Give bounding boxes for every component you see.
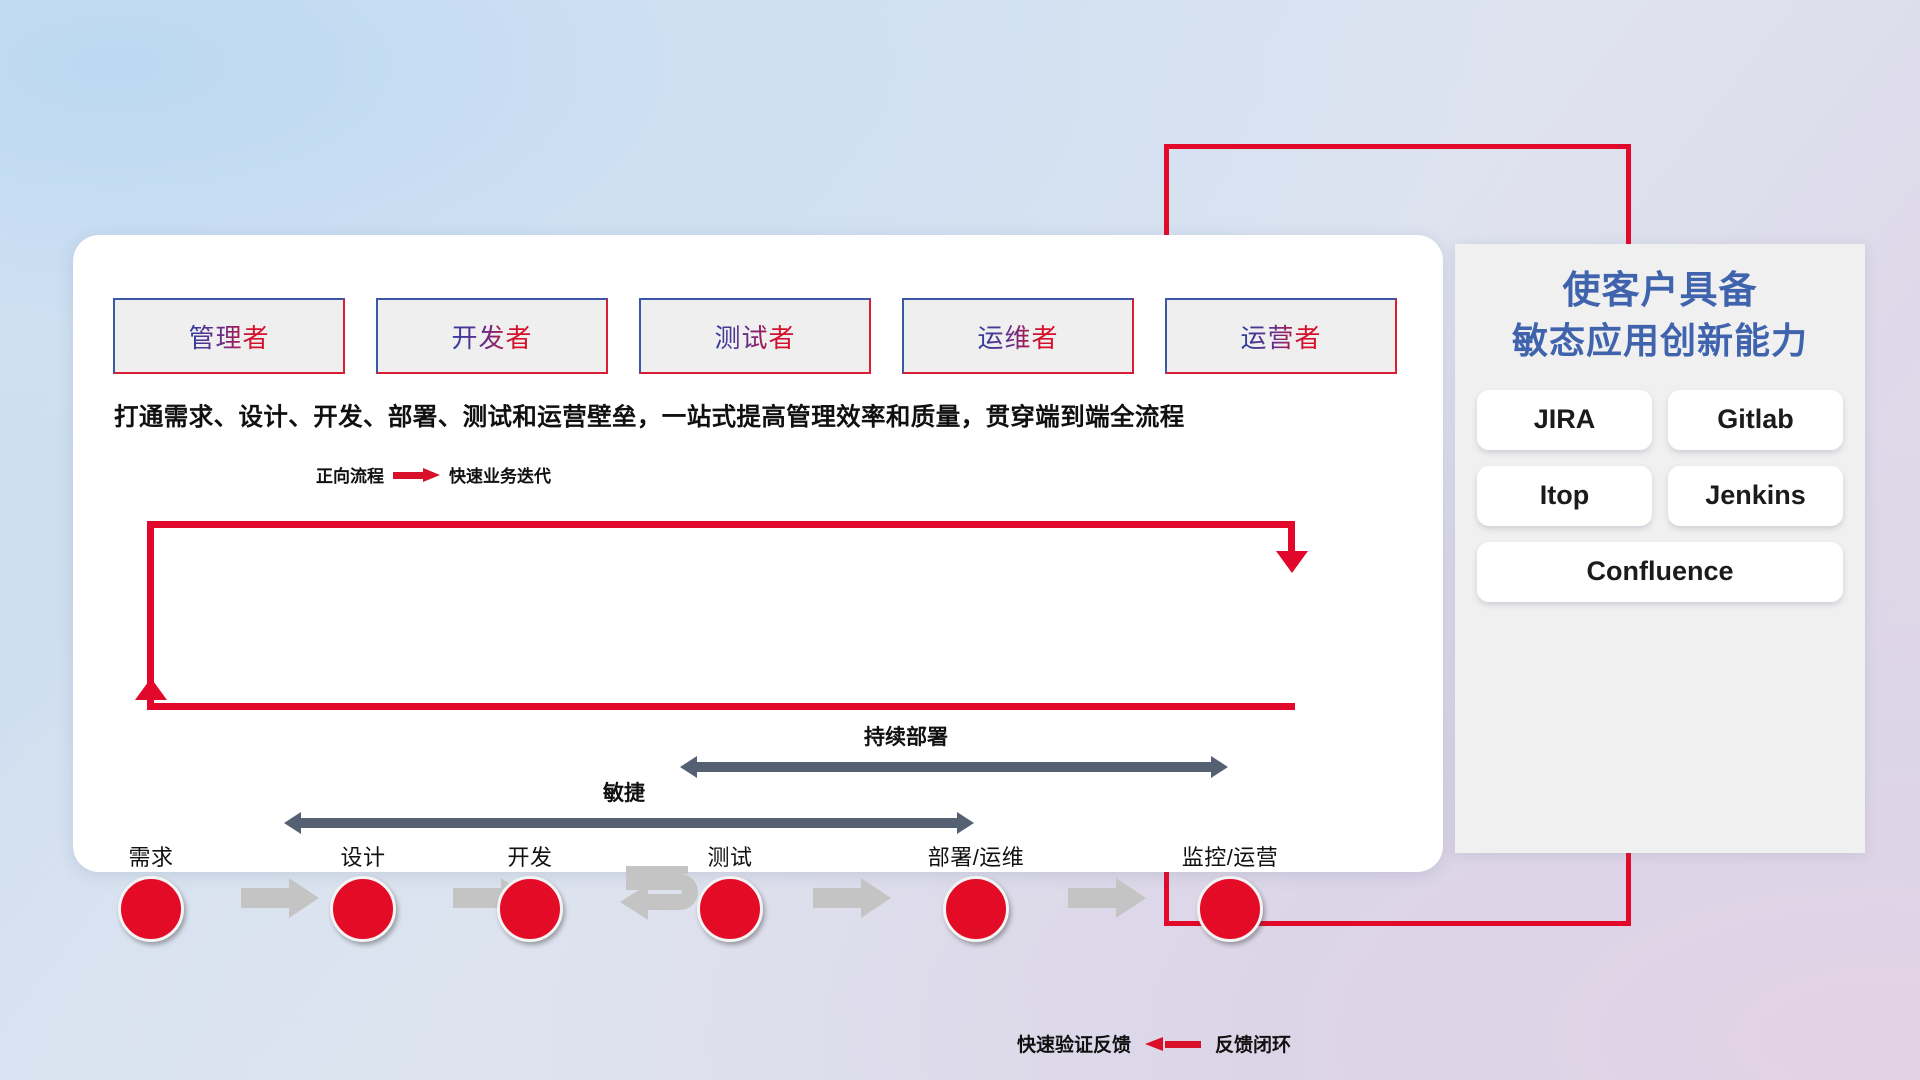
chain-arrow-3-icon	[813, 877, 891, 919]
role-box-tester[interactable]: 测试者	[639, 298, 871, 374]
feedback-loop-top	[147, 521, 1295, 528]
role-label: 测试者	[714, 318, 795, 355]
feedback-source-label: 反馈闭环	[1215, 1030, 1291, 1057]
pipeline-node-label: 开发	[465, 840, 595, 872]
tool-label: Jenkins	[1705, 480, 1806, 511]
feedback-loop-bottom	[147, 703, 1295, 710]
tool-pill-jenkins[interactable]: Jenkins	[1668, 466, 1843, 526]
role-label: 开发者	[451, 318, 532, 355]
agile-span-arrow	[284, 812, 974, 834]
pipeline-node-label: 测试	[665, 840, 795, 872]
pipeline-node-monitor-operate[interactable]: 监控/运营	[1165, 840, 1295, 942]
role-box-developer[interactable]: 开发者	[376, 298, 608, 374]
description-text: 打通需求、设计、开发、部署、测试和运营壁垒，一站式提高管理效率和质量，贯穿端到端…	[114, 398, 1404, 433]
pipeline-node-test[interactable]: 测试	[665, 840, 795, 942]
pipeline-chain: 需求 设计 开发	[73, 840, 1443, 980]
arrow-left-red-icon	[1145, 1037, 1201, 1051]
arrow-shaft	[695, 762, 1213, 772]
arrow-head-right-icon	[1211, 756, 1228, 778]
arrow-head-right-icon	[957, 812, 974, 834]
tool-pill-confluence[interactable]: Confluence	[1477, 542, 1843, 602]
slide-canvas: 管理者 开发者 测试者 运维者 运营者 打通需求、设计、开发、部署、测试和运营壁…	[0, 0, 1920, 1080]
tool-label: Itop	[1540, 480, 1589, 511]
forward-flow-legend: 正向流程 快速业务迭代	[316, 462, 551, 487]
feedback-loop-arrow-up-icon	[135, 678, 167, 700]
pipeline-node-design[interactable]: 设计	[298, 840, 428, 942]
tool-pill-jira[interactable]: JIRA	[1477, 390, 1652, 450]
span-label-agile: 敏捷	[603, 777, 645, 807]
feedback-loop-arrow-down-icon	[1276, 551, 1308, 573]
pipeline-node-dot	[1197, 876, 1263, 942]
tool-label: Gitlab	[1717, 404, 1794, 435]
role-label: 运营者	[1240, 318, 1321, 355]
capability-title-line-2: 敏态应用创新能力	[1455, 317, 1865, 366]
continuous-deployment-span-arrow	[680, 756, 1228, 778]
feedback-legend: 快速验证反馈 反馈闭环	[1017, 1030, 1291, 1057]
feedback-result-label: 快速验证反馈	[1017, 1030, 1131, 1057]
pipeline-node-label: 部署/运维	[911, 840, 1041, 872]
role-box-manager[interactable]: 管理者	[113, 298, 345, 374]
pipeline-node-dot	[330, 876, 396, 942]
pipeline-node-dot	[697, 876, 763, 942]
span-label-continuous-deployment: 持续部署	[864, 721, 948, 751]
role-box-operator[interactable]: 运维者	[902, 298, 1134, 374]
pipeline-node-dot	[943, 876, 1009, 942]
arrow-shaft	[299, 818, 959, 828]
pipeline-node-label: 需求	[86, 840, 216, 872]
feedback-loop-right	[1288, 521, 1295, 554]
pipeline-node-deploy-ops[interactable]: 部署/运维	[911, 840, 1041, 942]
tool-list: JIRA Gitlab Itop Jenkins Confluence	[1477, 390, 1843, 602]
pipeline-node-label: 设计	[298, 840, 428, 872]
tool-label: JIRA	[1534, 404, 1596, 435]
arrow-right-red-icon	[393, 468, 440, 482]
chain-arrow-4-icon	[1068, 877, 1146, 919]
forward-flow-source-label: 正向流程	[316, 462, 384, 487]
pipeline-node-requirement[interactable]: 需求	[86, 840, 216, 942]
capability-panel: 使客户具备 敏态应用创新能力 JIRA Gitlab Itop Jenkins …	[1455, 244, 1865, 853]
pipeline-node-dot	[497, 876, 563, 942]
role-box-business-operator[interactable]: 运营者	[1165, 298, 1397, 374]
tool-label: Confluence	[1586, 556, 1733, 587]
tool-pill-itop[interactable]: Itop	[1477, 466, 1652, 526]
devops-flow-card: 管理者 开发者 测试者 运维者 运营者 打通需求、设计、开发、部署、测试和运营壁…	[73, 235, 1443, 872]
role-label: 管理者	[188, 318, 269, 355]
tool-pill-gitlab[interactable]: Gitlab	[1668, 390, 1843, 450]
forward-flow-target-label: 快速业务迭代	[449, 462, 551, 487]
role-box-row: 管理者 开发者 测试者 运维者 运营者	[113, 298, 1397, 374]
pipeline-node-dot	[118, 876, 184, 942]
capability-title-line-1: 使客户具备	[1455, 266, 1865, 317]
pipeline-node-develop[interactable]: 开发	[465, 840, 595, 942]
pipeline-node-label: 监控/运营	[1165, 840, 1295, 872]
role-label: 运维者	[977, 318, 1058, 355]
capability-panel-title: 使客户具备 敏态应用创新能力	[1455, 244, 1865, 366]
